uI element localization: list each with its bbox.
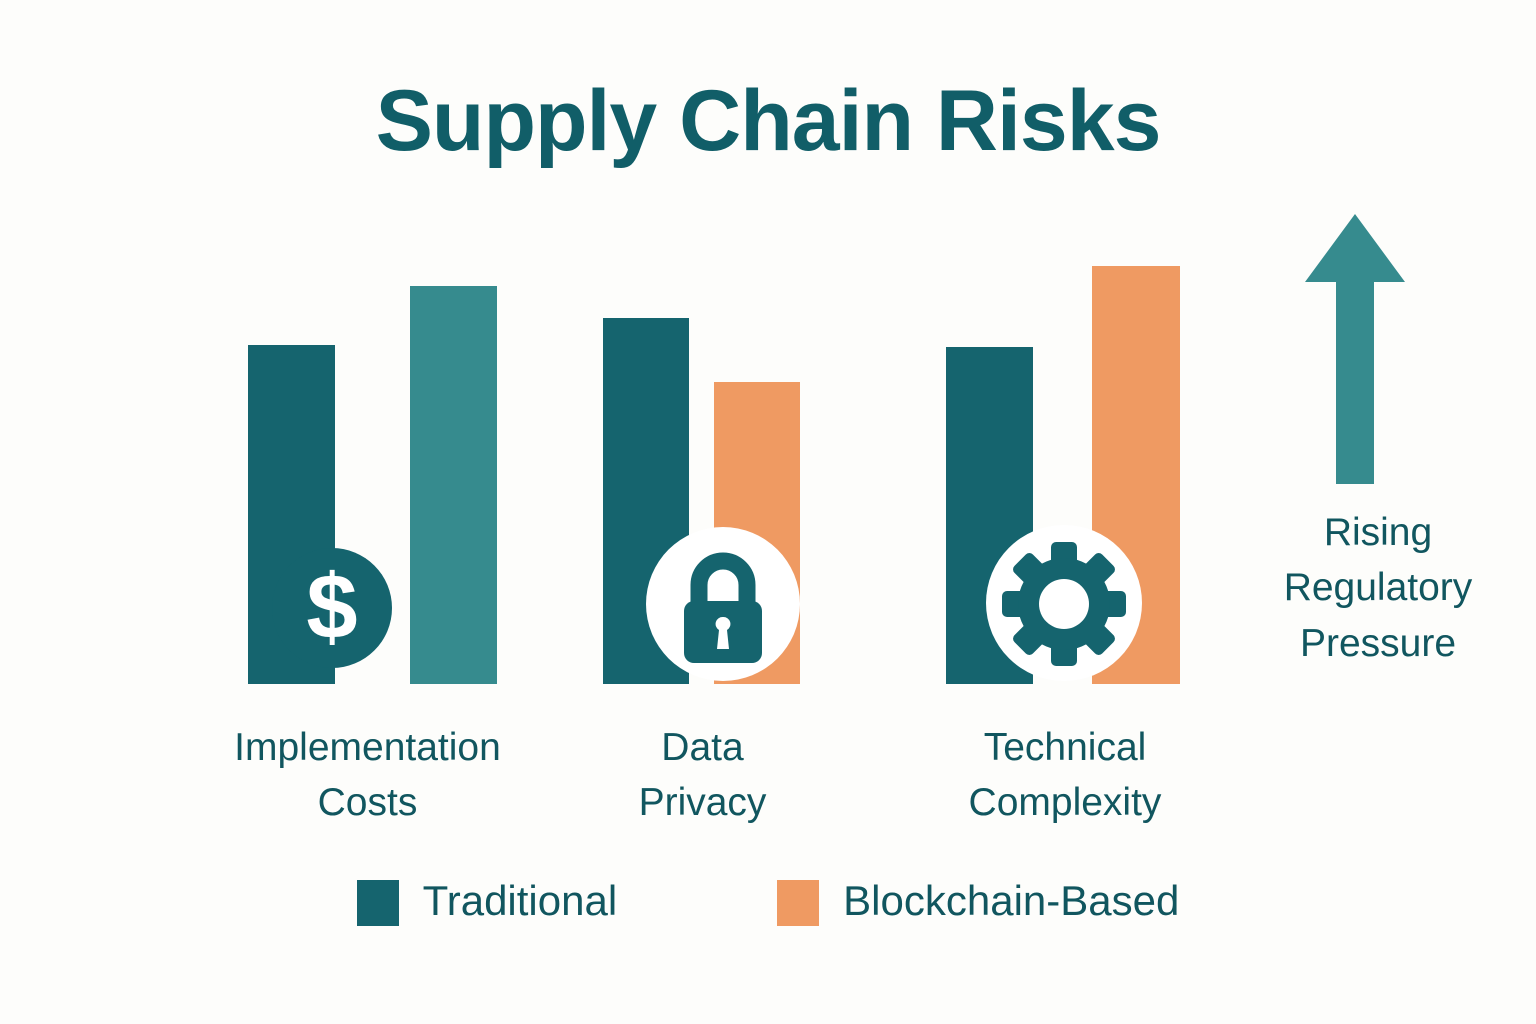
lock-icon xyxy=(646,527,800,681)
legend: Traditional Blockchain-Based xyxy=(0,880,1536,926)
legend-item-traditional[interactable]: Traditional xyxy=(357,880,618,926)
gear-icon xyxy=(986,525,1142,681)
category-label-data-privacy: Data Privacy xyxy=(560,720,845,831)
category-label-implementation-costs: Implementation Costs xyxy=(125,720,610,831)
category-label-technical-complexity: Technical Complexity xyxy=(885,720,1245,831)
dollar-icon: $ xyxy=(272,548,392,668)
infographic-canvas: Supply Chain Risks $ Implementation Cost… xyxy=(0,0,1536,1024)
up-arrow-icon xyxy=(1300,212,1410,487)
page-title: Supply Chain Risks xyxy=(0,76,1536,166)
legend-label-blockchain-based: Blockchain-Based xyxy=(843,880,1179,922)
legend-swatch-blockchain-based xyxy=(777,880,819,926)
legend-swatch-traditional xyxy=(357,880,399,926)
legend-label-traditional: Traditional xyxy=(423,880,618,922)
bar-blockchain-implementation-costs xyxy=(410,286,497,684)
svg-text:$: $ xyxy=(306,556,357,658)
legend-item-blockchain-based[interactable]: Blockchain-Based xyxy=(777,880,1179,926)
callout-label: Rising Regulatory Pressure xyxy=(1228,505,1528,671)
